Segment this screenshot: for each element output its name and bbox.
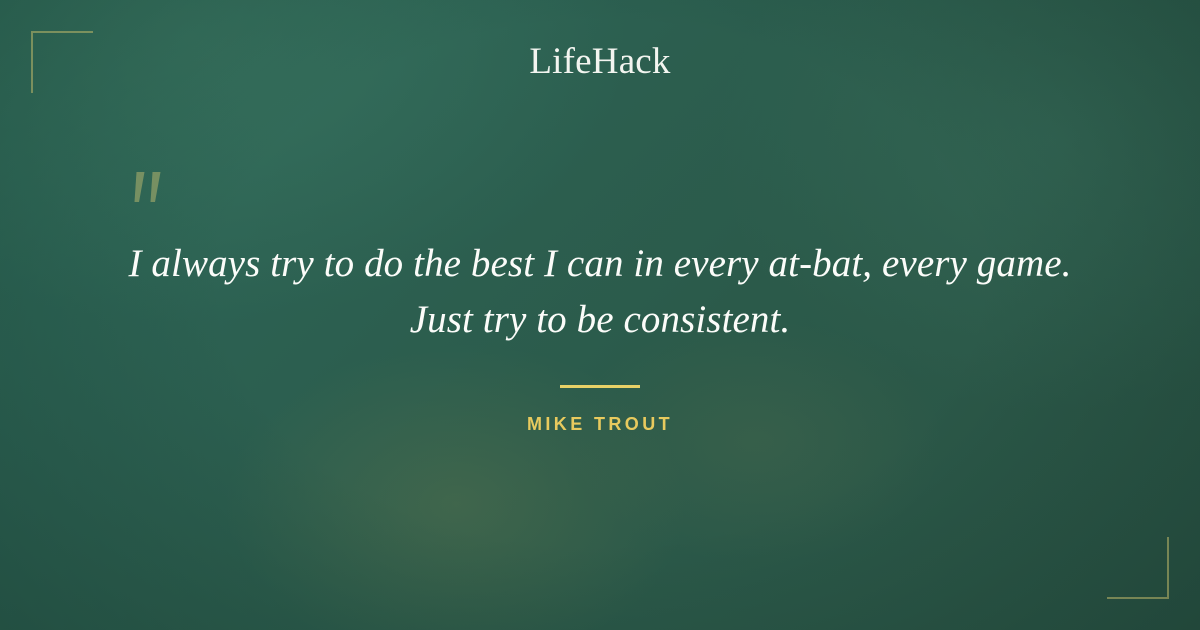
quote-line-2: Just try to be consistent. (88, 292, 1112, 348)
brand-logo: LifeHack (0, 40, 1200, 83)
corner-bracket-bottom-right-icon (1107, 537, 1169, 599)
quote-block: I always try to do the best I can in eve… (88, 236, 1112, 348)
quote-line-1: I always try to do the best I can in eve… (88, 236, 1112, 292)
quote-author: MIKE TROUT (0, 414, 1200, 435)
attribution-divider (560, 385, 640, 388)
double-quote-icon (126, 168, 178, 218)
quote-card: LifeHack I always try to do the best I c… (0, 0, 1200, 630)
